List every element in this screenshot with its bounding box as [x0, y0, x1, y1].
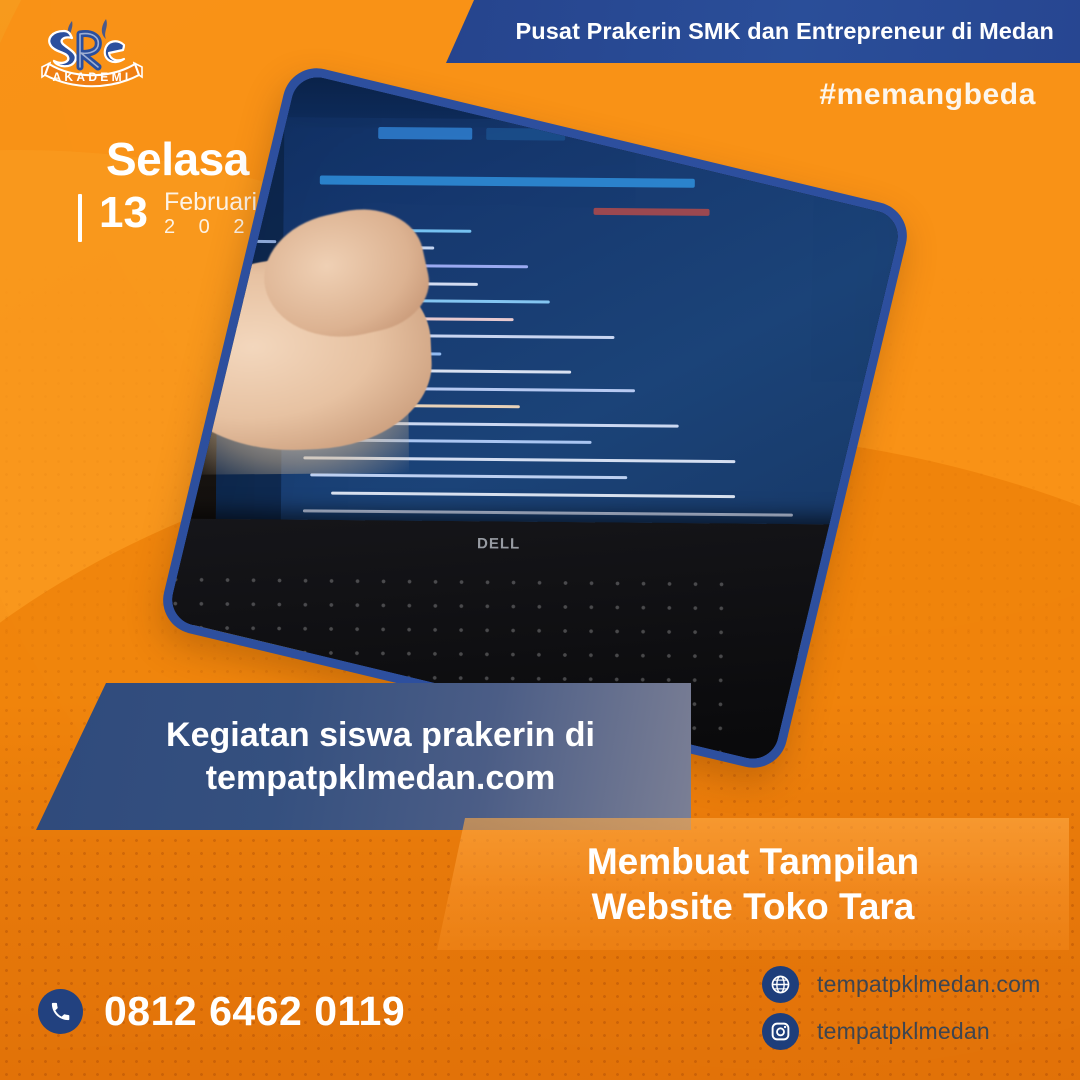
svg-text:AKADEMI: AKADEMI — [52, 70, 131, 84]
header-bar: Pusat Prakerin SMK dan Entrepreneur di M… — [446, 0, 1080, 63]
caption-banner: Kegiatan siswa prakerin di tempatpklmeda… — [36, 683, 691, 830]
subtitle-banner: Membuat Tampilan Website Toko Tara — [437, 818, 1069, 950]
social-media-poster: Pusat Prakerin SMK dan Entrepreneur di M… — [0, 0, 1080, 1080]
hashtag-label: #memangbeda — [819, 78, 1036, 112]
caption-line-1: Kegiatan siswa prakerin di — [166, 714, 595, 757]
subtitle-line-2: Website Toko Tara — [592, 884, 915, 929]
subtitle-line-1: Membuat Tampilan — [587, 839, 919, 884]
photo-editor-menubar — [220, 75, 903, 122]
date-divider — [78, 194, 82, 242]
brand-logo: AKADEMI — [26, 9, 158, 93]
instagram-icon — [762, 1013, 799, 1050]
website-label: tempatpklmedan.com — [817, 971, 1040, 998]
contact-instagram[interactable]: tempatpklmedan — [762, 1013, 1040, 1050]
contact-website[interactable]: tempatpklmedan.com — [762, 966, 1040, 1003]
phone-number: 0812 6462 0119 — [104, 988, 405, 1035]
photo-dell-logo: DELL — [477, 535, 520, 552]
globe-icon — [762, 966, 799, 1003]
date-day-number: 13 — [99, 191, 148, 235]
logo-icon: AKADEMI — [26, 9, 158, 93]
photo-image: DELL — [167, 72, 903, 764]
header-title: Pusat Prakerin SMK dan Entrepreneur di M… — [516, 18, 1055, 45]
photo-frame: DELL — [156, 61, 914, 774]
instagram-label: tempatpklmedan — [817, 1018, 990, 1045]
caption-line-2: tempatpklmedan.com — [206, 757, 556, 800]
phone-contact[interactable]: 0812 6462 0119 — [38, 988, 405, 1035]
contact-list: tempatpklmedan.com tempatpklmedan — [762, 966, 1040, 1060]
phone-icon — [38, 989, 83, 1034]
